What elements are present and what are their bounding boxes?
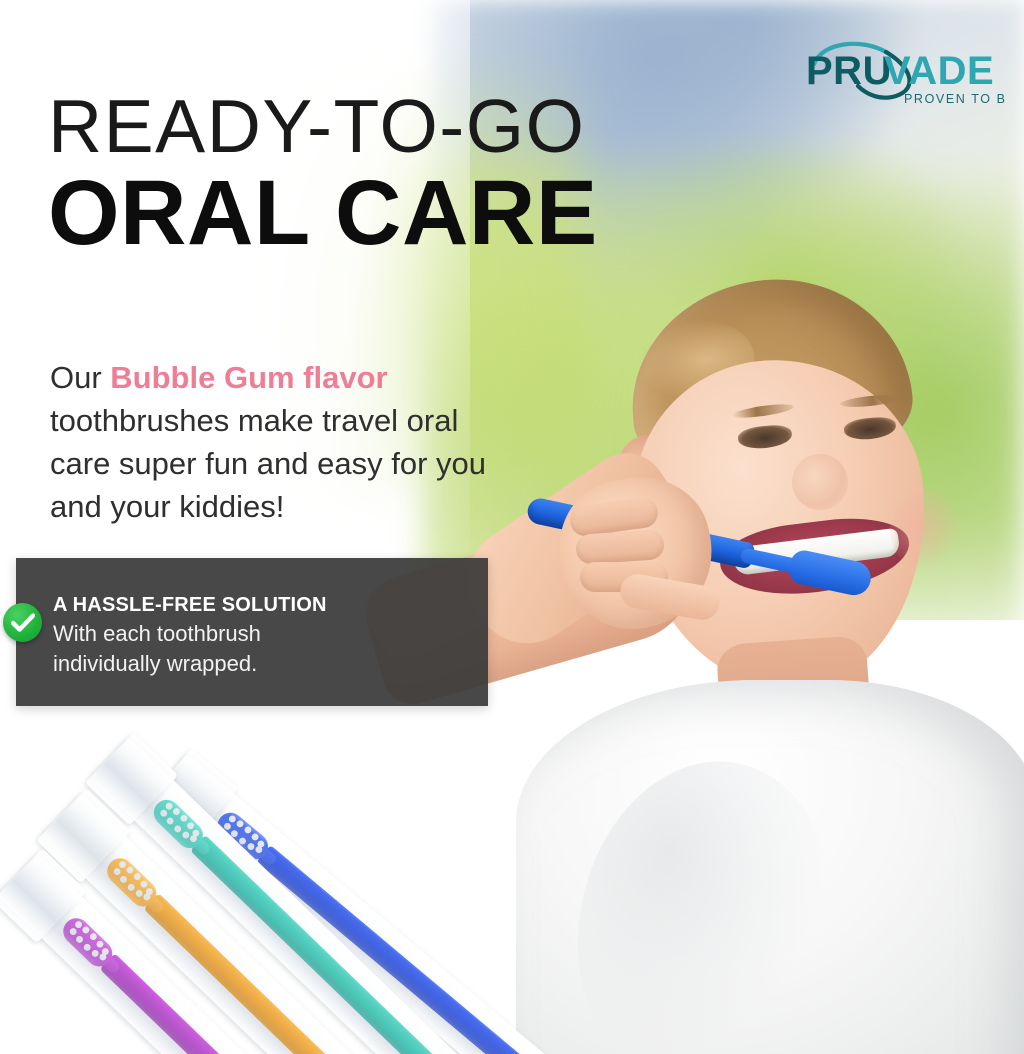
callout-body-line-1: With each toothbrush [53,619,453,648]
callout-text-block: A HASSLE-FREE SOLUTION With each toothbr… [53,592,453,678]
sub-copy-before: Our [50,360,110,395]
sub-copy-highlight: Bubble Gum flavor [110,360,387,395]
product-marketing-poster: PRU VADE PROVEN TO BE READY-TO-GO ORAL C… [0,0,1024,1054]
headline-line-2: ORAL CARE [48,166,728,260]
headline-line-1: READY-TO-GO [48,88,728,164]
logo-tagline: PROVEN TO BE [904,92,1006,106]
logo-text-primary: PRU [806,49,892,93]
boy-nose [792,454,848,510]
check-icon [3,603,42,642]
boy-finger [575,529,665,565]
boy-cheek [890,490,960,570]
wrapped-toothbrush-group [0,690,680,1054]
sub-copy-after: toothbrushes make travel oral care super… [50,403,486,524]
hassle-free-callout-panel: A HASSLE-FREE SOLUTION With each toothbr… [16,558,488,706]
logo-text-secondary: VADE [884,49,994,93]
sub-copy: Our Bubble Gum flavor toothbrushes make … [50,356,520,528]
callout-body-line-2: individually wrapped. [53,649,453,678]
headline-block: READY-TO-GO ORAL CARE [48,88,728,260]
pruvade-logo[interactable]: PRU VADE PROVEN TO BE [800,36,1006,110]
callout-title: A HASSLE-FREE SOLUTION [53,592,453,618]
